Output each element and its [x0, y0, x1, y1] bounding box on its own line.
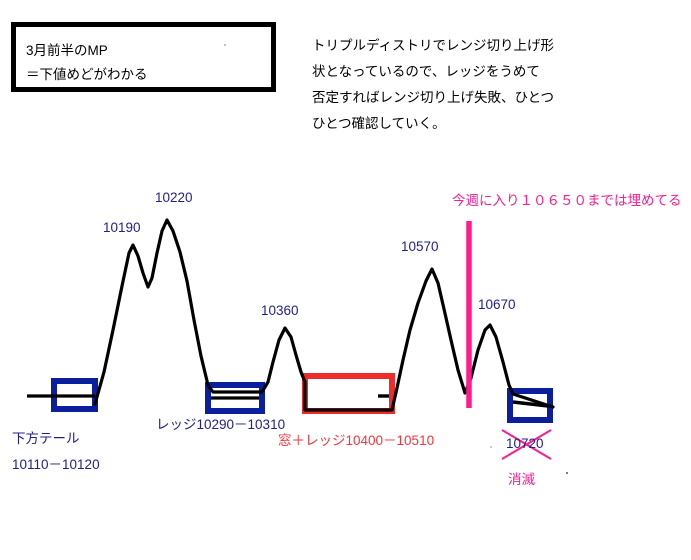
this-week-fill-note: 今週に入り１０６５０までは埋めてる — [452, 189, 682, 209]
lower-tail-label: 下方テール — [12, 427, 80, 447]
peak-label-10360: 10360 — [261, 303, 299, 318]
peak-label-10670: 10670 — [478, 297, 516, 312]
zone-window-ledge — [305, 376, 392, 411]
ledge-label: レッジ10290－10310 — [156, 413, 285, 433]
scan-artifact-dot — [224, 44, 226, 46]
screenshot-canvas: 3月前半のMP ＝下値めどがわかる トリプルディストリでレンジ切り上げ形 状とな… — [0, 0, 691, 560]
price-line — [95, 220, 553, 410]
scan-artifact-dot — [490, 446, 492, 448]
peak-label-10190: 10190 — [103, 220, 141, 235]
window-ledge-label: 窓＋レッジ10400－10510 — [278, 429, 434, 449]
lower-tail-range: 10110－10120 — [12, 453, 100, 473]
crossed-value-label: 10720 — [506, 436, 544, 451]
peak-label-10570: 10570 — [401, 239, 439, 254]
peak-label-10220: 10220 — [155, 190, 193, 205]
price-chart — [0, 0, 691, 560]
scan-artifact-dot — [566, 472, 568, 474]
extinguished-label: 消滅 — [508, 468, 535, 488]
